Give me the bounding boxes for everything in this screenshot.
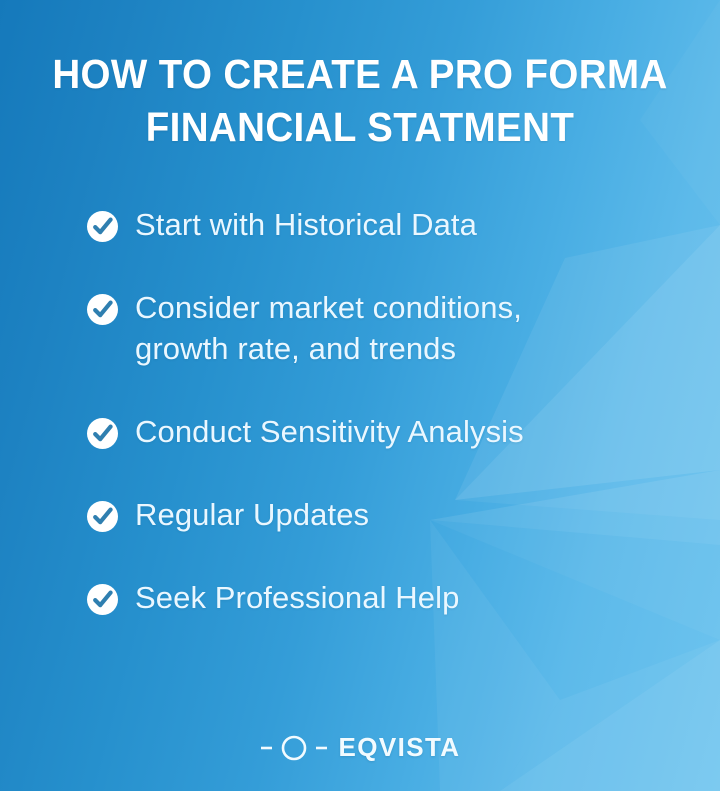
list-item-label: Seek Professional Help	[135, 578, 459, 619]
list-item-label: Start with Historical Data	[135, 205, 477, 246]
list-item: Regular Updates	[86, 495, 680, 536]
list-item-label: Regular Updates	[135, 495, 369, 536]
page-title: HOW TO CREATE A PRO FORMA FINANCIAL STAT…	[0, 48, 720, 155]
list-item: Conduct Sensitivity Analysis	[86, 412, 680, 453]
title-line-2: FINANCIAL STATMENT	[48, 101, 672, 154]
list-item-label: Consider market conditions, growth rate,…	[135, 288, 605, 370]
check-circle-icon	[86, 293, 119, 326]
title-line-1: HOW TO CREATE A PRO FORMA	[48, 48, 672, 101]
check-circle-icon	[86, 417, 119, 450]
list-item-label: Conduct Sensitivity Analysis	[135, 412, 524, 453]
check-circle-icon	[86, 583, 119, 616]
check-circle-icon	[86, 210, 119, 243]
list-item: Start with Historical Data	[86, 205, 680, 246]
eqvista-circle-mark	[259, 733, 329, 763]
checklist: Start with Historical Data Consider mark…	[86, 205, 680, 618]
eqvista-wordmark: EQVISTA	[338, 732, 460, 763]
infographic-poster: HOW TO CREATE A PRO FORMA FINANCIAL STAT…	[0, 0, 720, 791]
list-item: Consider market conditions, growth rate,…	[86, 288, 680, 370]
list-item: Seek Professional Help	[86, 578, 680, 619]
eqvista-logo: EQVISTA	[0, 732, 720, 763]
check-circle-icon	[86, 500, 119, 533]
